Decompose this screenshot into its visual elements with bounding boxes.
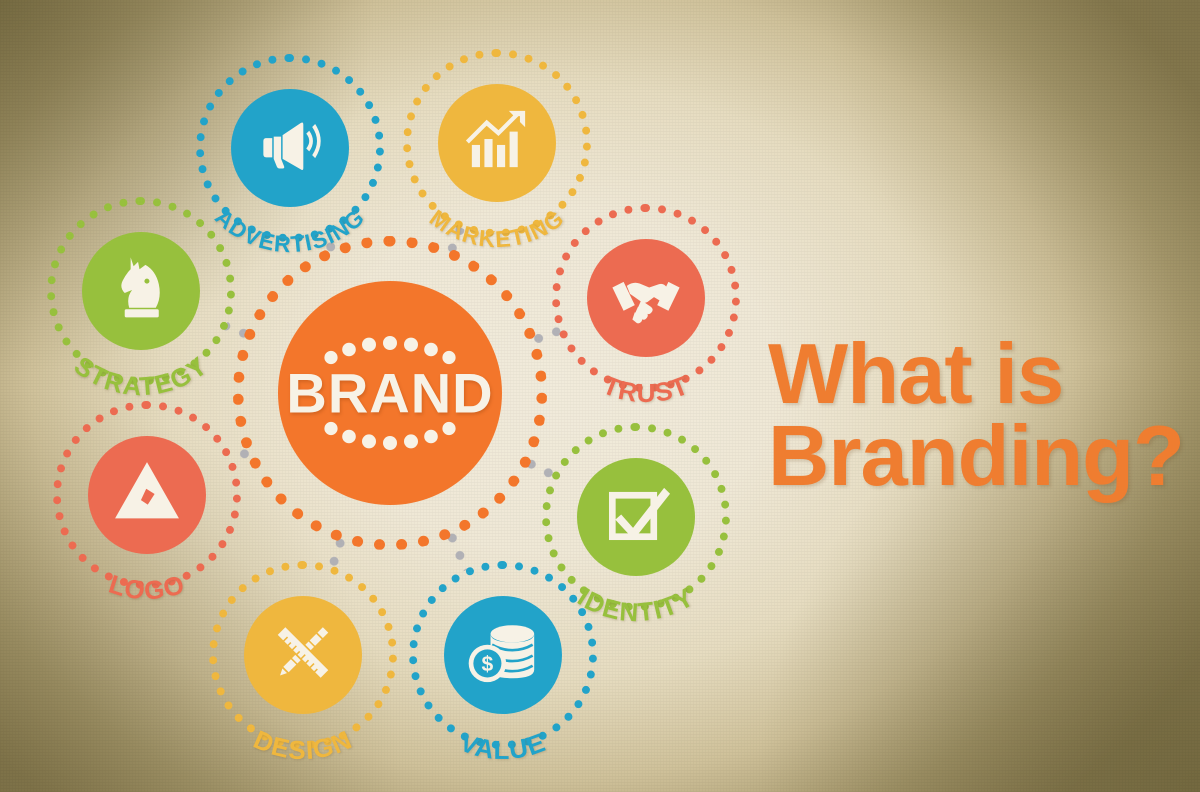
svg-text:DESIGN: DESIGN <box>249 724 357 765</box>
svg-text:LOGO: LOGO <box>105 569 188 606</box>
svg-text:VALUE: VALUE <box>456 727 550 765</box>
node-caption-arc: TRUST <box>521 173 771 423</box>
page-headline: What is Branding? <box>768 334 1188 499</box>
node-caption-arc: STRATEGY <box>16 166 266 416</box>
headline-line-1: What is <box>768 327 1063 422</box>
brand-label: BRAND <box>286 361 493 426</box>
svg-text:STRATEGY: STRATEGY <box>69 350 214 401</box>
headline-line-2: Branding? <box>768 416 1188 498</box>
infographic-canvas: ADVERTISING MARKETING TRUST <box>0 0 1200 792</box>
